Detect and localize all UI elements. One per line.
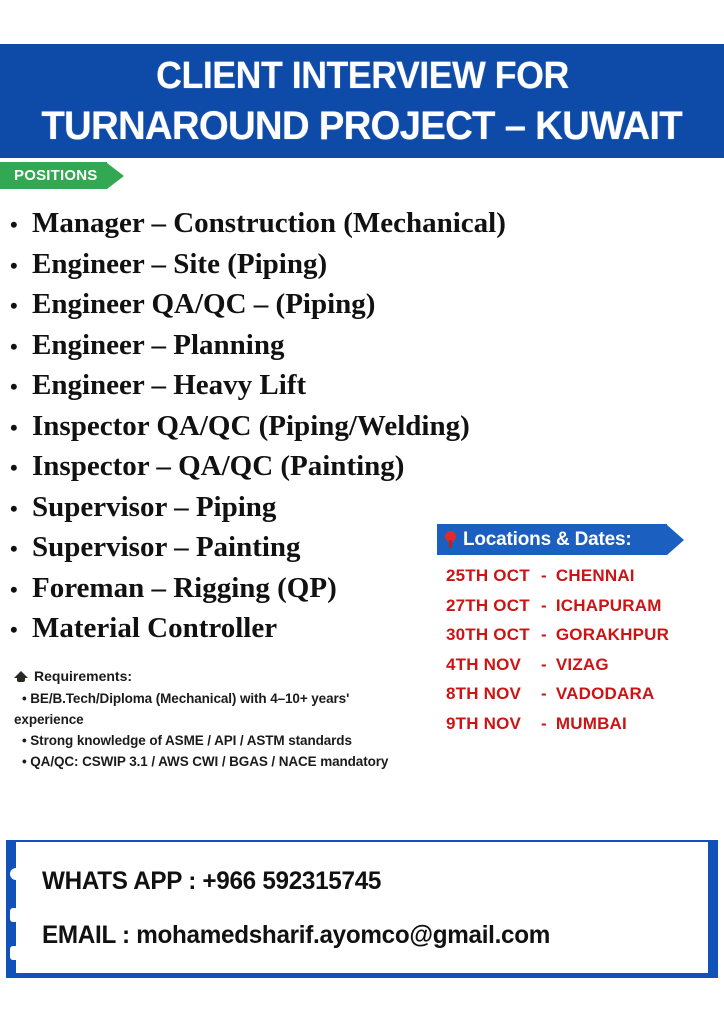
location-city: VADODARA (550, 679, 655, 709)
location-city: ICHAPURAM (550, 591, 662, 621)
requirements-block: Requirements: • BE/B.Tech/Diploma (Mecha… (14, 666, 414, 772)
bullet-icon: • (10, 286, 32, 327)
card-notch-decoration (10, 908, 22, 922)
list-item: • Manager – Construction (Mechanical) (10, 203, 590, 244)
location-city: CHENNAI (550, 561, 635, 591)
location-separator: - (538, 620, 550, 650)
list-item: • Strong knowledge of ASME / API / ASTM … (14, 730, 414, 751)
card-notch-decoration (10, 868, 22, 880)
location-date: 27TH OCT (446, 591, 538, 621)
list-item: • Engineer – Site (Piping) (10, 244, 590, 285)
bullet-icon: • (10, 367, 32, 408)
list-item: • Engineer – Planning (10, 325, 590, 366)
card-notch-decoration (10, 946, 22, 960)
bullet-icon: • (10, 610, 32, 651)
bullet-icon: • (10, 205, 32, 246)
contact-card-inner: WHATS APP : +966 592315745 EMAIL : moham… (16, 842, 708, 973)
locations-header-arrow-icon (667, 525, 684, 555)
requirements-list: • BE/B.Tech/Diploma (Mechanical) with 4–… (14, 688, 414, 772)
list-item: 4TH NOV - VIZAG (437, 650, 722, 680)
requirements-heading: Requirements: (14, 666, 414, 686)
position-title: Engineer – Planning (32, 325, 284, 366)
location-date: 25TH OCT (446, 561, 538, 591)
location-city: MUMBAI (550, 709, 627, 739)
location-date: 8TH NOV (446, 679, 538, 709)
graduation-cap-icon (14, 670, 28, 683)
location-city: GORAKHPUR (550, 620, 669, 650)
location-city: VIZAG (550, 650, 609, 680)
positions-tag-body: POSITIONS (0, 162, 107, 189)
list-item: • Inspector – QA/QC (Painting) (10, 446, 590, 487)
list-item: 8TH NOV - VADODARA (437, 679, 722, 709)
bullet-icon: • (10, 327, 32, 368)
header-title-line-1: CLIENT INTERVIEW FOR (156, 51, 569, 101)
list-item: 25TH OCT - CHENNAI (437, 561, 722, 591)
location-separator: - (538, 709, 550, 739)
positions-tag: POSITIONS (0, 162, 124, 189)
list-item: • Supervisor – Piping (10, 487, 590, 528)
requirements-heading-label: Requirements: (34, 666, 132, 686)
poster-root: CLIENT INTERVIEW FOR TURNAROUND PROJECT … (0, 0, 724, 1024)
location-date: 30TH OCT (446, 620, 538, 650)
position-title: Engineer QA/QC – (Piping) (32, 284, 375, 325)
locations-rows: 25TH OCT - CHENNAI 27TH OCT - ICHAPURAM … (437, 561, 722, 738)
bullet-icon: • (10, 246, 32, 287)
bullet-icon: • (10, 489, 32, 530)
position-title: Material Controller (32, 608, 277, 649)
position-title: Supervisor – Piping (32, 487, 276, 528)
bullet-icon: • (10, 448, 32, 489)
whatsapp-contact[interactable]: WHATS APP : +966 592315745 (42, 854, 688, 908)
positions-tag-label: POSITIONS (14, 167, 97, 184)
locations-header-banner: Locations & Dates: (437, 524, 684, 555)
position-title: Engineer – Heavy Lift (32, 365, 306, 406)
bullet-icon: • (10, 570, 32, 611)
location-separator: - (538, 591, 550, 621)
list-item: • QA/QC: CSWIP 3.1 / AWS CWI / BGAS / NA… (14, 751, 414, 772)
location-separator: - (538, 679, 550, 709)
location-separator: - (538, 561, 550, 591)
contact-card: WHATS APP : +966 592315745 EMAIL : moham… (6, 840, 718, 978)
list-item: 27TH OCT - ICHAPURAM (437, 591, 722, 621)
position-title: Inspector QA/QC (Piping/Welding) (32, 406, 470, 447)
list-item: • BE/B.Tech/Diploma (Mechanical) with 4–… (14, 688, 414, 730)
list-item: • Inspector QA/QC (Piping/Welding) (10, 406, 590, 447)
list-item: • Engineer QA/QC – (Piping) (10, 284, 590, 325)
positions-tag-arrow-icon (107, 163, 124, 189)
locations-header-body: Locations & Dates: (437, 524, 667, 555)
locations-header-label: Locations & Dates: (463, 529, 632, 551)
position-title: Inspector – QA/QC (Painting) (32, 446, 404, 487)
header-title-line-2: TURNAROUND PROJECT – KUWAIT (42, 101, 683, 151)
list-item: 30TH OCT - GORAKHPUR (437, 620, 722, 650)
bullet-icon: • (10, 408, 32, 449)
position-title: Manager – Construction (Mechanical) (32, 203, 506, 244)
location-date: 4TH NOV (446, 650, 538, 680)
list-item: • Engineer – Heavy Lift (10, 365, 590, 406)
header-banner: CLIENT INTERVIEW FOR TURNAROUND PROJECT … (0, 44, 724, 158)
email-contact[interactable]: EMAIL : mohamedsharif.ayomco@gmail.com (42, 908, 688, 962)
list-item: 9TH NOV - MUMBAI (437, 709, 722, 739)
position-title: Supervisor – Painting (32, 527, 301, 568)
map-pin-icon (445, 531, 456, 548)
position-title: Foreman – Rigging (QP) (32, 568, 337, 609)
location-separator: - (538, 650, 550, 680)
bullet-icon: • (10, 529, 32, 570)
position-title: Engineer – Site (Piping) (32, 244, 327, 285)
location-date: 9TH NOV (446, 709, 538, 739)
locations-and-dates-panel: Locations & Dates: 25TH OCT - CHENNAI 27… (437, 524, 722, 738)
